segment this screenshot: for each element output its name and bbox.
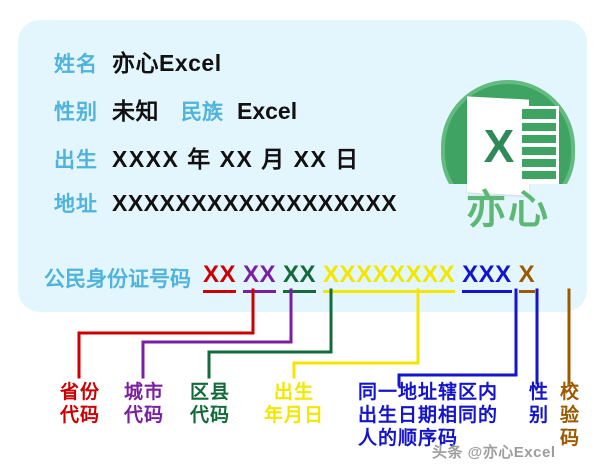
annotation-gender: 性 别 [528, 381, 550, 427]
annotation-sequence-code: 同一地址辖区内 出生日期相同的 人的顺序码 [358, 381, 498, 450]
annotation-city-code: 城市 代码 [120, 381, 168, 427]
watermark-text: 头条 @亦心Excel [432, 441, 556, 462]
connector-province [79, 290, 253, 377]
annotation-birth-date: 出生 年月日 [260, 381, 328, 427]
annotation-check-code: 校 验 码 [559, 381, 581, 450]
connector-birthdate [294, 290, 418, 377]
id-card-infographic: 姓名 亦心Excel 性别 未知 民族 Excel 出生 XXXX 年 XX 月… [0, 0, 600, 467]
annotation-province-code: 省份 代码 [56, 381, 104, 427]
annotation-district-code: 区县 代码 [186, 381, 234, 427]
